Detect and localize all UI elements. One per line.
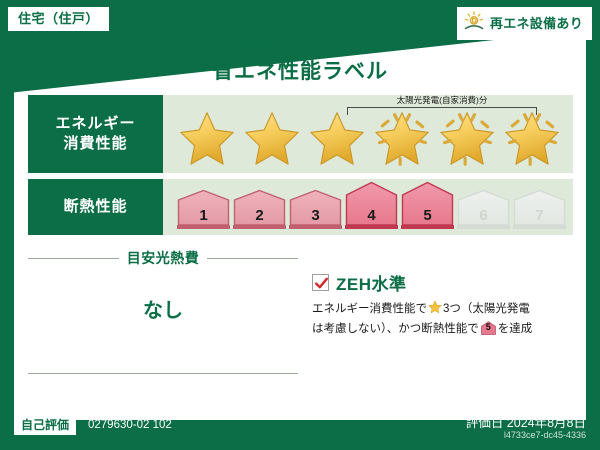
inline-star-icon xyxy=(428,300,442,321)
zeh-desc-part1: エネルギー消費性能で xyxy=(312,303,427,315)
zeh-checkbox[interactable] xyxy=(312,274,329,291)
insulation-level-number: 3 xyxy=(289,207,342,224)
star-solar xyxy=(372,109,433,167)
zeh-description: エネルギー消費性能で3つ（太陽光発電は考慮しない）、かつ断熱性能で5を達成 xyxy=(312,300,573,339)
insulation-level-number: 4 xyxy=(345,207,398,224)
utility-cost-block: 目安光熱費 なし xyxy=(28,248,308,339)
insulation-level-number: 2 xyxy=(233,207,286,224)
inline-house-badge: 5 xyxy=(481,321,496,335)
insulation-level-2: 2 xyxy=(233,189,286,229)
building-type-badge: 住宅（住戸） xyxy=(8,7,109,31)
zeh-desc-part3: を達成 xyxy=(498,323,533,335)
inline-house-number: 5 xyxy=(481,321,496,335)
insulation-level-number: 5 xyxy=(401,207,454,224)
zeh-block: ZEH水準 エネルギー消費性能で3つ（太陽光発電は考慮しない）、かつ断熱性能で5… xyxy=(308,248,573,339)
sun-icon xyxy=(463,11,485,36)
solar-bracket-label: 太陽光発電(自家消費)分 xyxy=(347,95,537,106)
insulation-row-label: 断熱性能 xyxy=(28,179,163,235)
zeh-title: ZEH水準 xyxy=(336,270,407,295)
utility-cost-caption: 目安光熱費 xyxy=(127,248,200,268)
utility-cost-heading: 目安光熱費 xyxy=(28,248,298,268)
insulation-level-3: 3 xyxy=(289,189,342,229)
insulation-level-number: 7 xyxy=(513,207,566,224)
energy-row-label-line2: 消費性能 xyxy=(63,134,127,154)
insulation-level-7: 7 xyxy=(513,189,566,229)
zeh-desc-part2: は考慮しない）、かつ断熱性能で xyxy=(312,323,479,335)
star-filled xyxy=(307,109,368,167)
energy-row-label: エネルギー 消費性能 xyxy=(28,95,163,173)
heading-rule-left xyxy=(28,258,119,259)
zeh-heading: ZEH水準 xyxy=(312,270,573,295)
check-icon xyxy=(314,276,329,291)
energy-performance-label: 住宅（住戸） 再エネ設備あり 建築 xyxy=(0,0,600,450)
insulation-row-body: 1234567 xyxy=(163,179,573,235)
self-evaluation-number: 0279630-02 102 xyxy=(88,419,172,431)
utility-cost-value: なし xyxy=(28,294,298,323)
star-filled xyxy=(242,109,303,167)
insulation-performance-row: 断熱性能 1234567 xyxy=(28,179,573,235)
label-title-block: 建築物省エネ法に基づく 省エネ性能ラベル xyxy=(0,36,600,85)
insulation-level-4: 4 xyxy=(345,181,398,229)
star-solar xyxy=(437,109,498,167)
self-evaluation-badge: 自己評価 xyxy=(14,416,76,435)
evaluation-date: 評価日 2024年8月8日 xyxy=(466,412,586,431)
heading-rule-right xyxy=(207,258,298,259)
insulation-level-number: 1 xyxy=(177,207,230,224)
renewable-equipment-badge: 再エネ設備あり xyxy=(457,7,592,40)
renewable-badge-label: 再エネ設備あり xyxy=(490,17,583,30)
lower-section: 目安光熱費 なし ZEH水準 エネルギー消費性能で3つ（太陽光発電は考慮しない）… xyxy=(28,248,573,339)
insulation-level-5: 5 xyxy=(401,181,454,229)
page-title: 省エネ性能ラベル xyxy=(0,55,600,85)
energy-performance-row: エネルギー 消費性能 太陽光発電(自家消費)分 xyxy=(28,95,573,173)
insulation-level-6: 6 xyxy=(457,189,510,229)
energy-row-label-line1: エネルギー xyxy=(55,114,135,134)
star-filled xyxy=(177,109,238,167)
zeh-desc-starcount: 3つ（太陽光発電 xyxy=(443,303,530,315)
energy-star-rating xyxy=(177,109,563,167)
utility-cost-bottom-rule xyxy=(28,373,298,374)
insulation-level-scale: 1234567 xyxy=(177,181,566,229)
label-footer: 自己評価 0279630-02 102 評価日 2024年8月8日 l4733c… xyxy=(0,404,600,450)
rating-rows: エネルギー 消費性能 太陽光発電(自家消費)分 断熱性能 1234567 xyxy=(28,95,573,241)
insulation-level-number: 6 xyxy=(457,207,510,224)
evaluation-id: l4733ce7-dc45-4336 xyxy=(504,430,586,440)
insulation-level-1: 1 xyxy=(177,189,230,229)
energy-row-body: 太陽光発電(自家消費)分 xyxy=(163,95,573,173)
star-solar xyxy=(502,109,563,167)
